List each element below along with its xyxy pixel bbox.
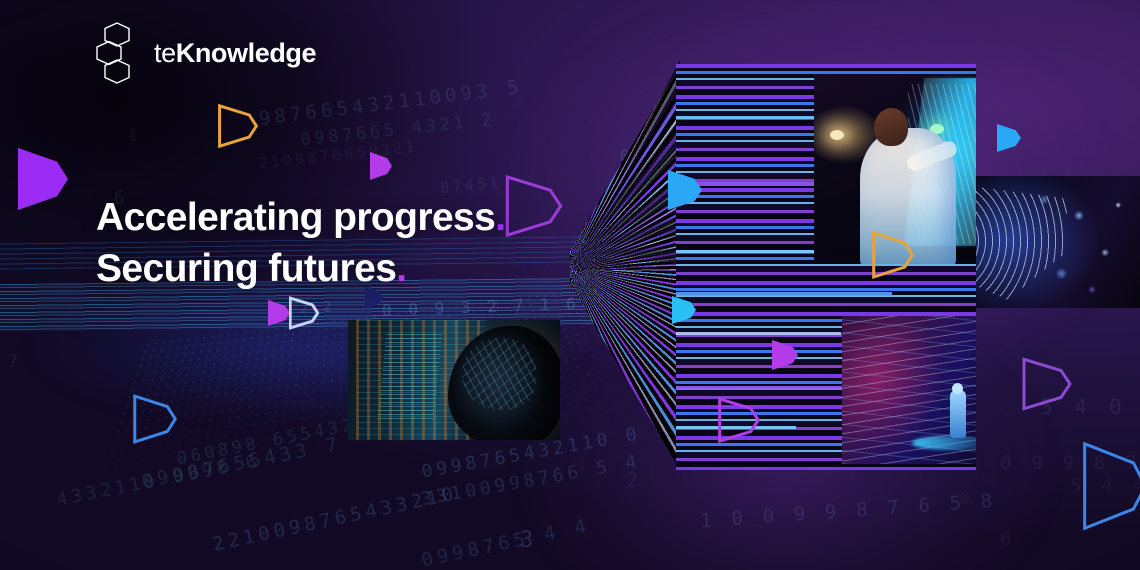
walking-figure-body [950, 390, 966, 438]
headline-period-1: . [495, 196, 505, 239]
play-hex-violet-outline-icon [1022, 356, 1072, 412]
play-hex-white-outline-icon [289, 296, 319, 330]
headline-period-2: . [396, 247, 406, 290]
play-hex-orange-cube-icon [872, 230, 914, 280]
headline-line-2-text: Securing futures [96, 247, 396, 290]
play-hex-magenta-outline-icon [505, 173, 563, 239]
walking-figure-head [952, 383, 963, 394]
brand-logo[interactable]: teKnowledge [96, 22, 316, 84]
headline-line-2: Securing futures. [96, 244, 505, 295]
page-title: Accelerating progress. Securing futures. [96, 193, 505, 294]
photo-person-profile-data [348, 320, 560, 440]
teknowledge-hexagon-mark-icon [96, 22, 140, 84]
play-hex-orange-outline-icon [218, 103, 258, 149]
play-hex-blue-outline-big-icon [1082, 438, 1140, 534]
facial-recognition-mesh [462, 338, 536, 410]
headline-line-1: Accelerating progress. [96, 193, 505, 244]
hero-banner: 987665432110093 50987665 4321 2210987665… [0, 0, 1140, 570]
brand-wordmark: teKnowledge [154, 38, 316, 69]
logo-text-bold: Knowledge [176, 38, 316, 68]
play-hex-magenta-cube-icon [718, 396, 760, 444]
photo-walking-figure [842, 316, 976, 464]
play-hex-blue-outline-icon [133, 393, 177, 445]
ambient-lamp-warm [830, 130, 844, 140]
data-stream-texture [377, 334, 442, 420]
person-head [874, 108, 908, 146]
perspective-cube-graphic [604, 64, 976, 470]
logo-text-light: te [154, 38, 176, 68]
headline-line-1-text: Accelerating progress [96, 196, 495, 239]
